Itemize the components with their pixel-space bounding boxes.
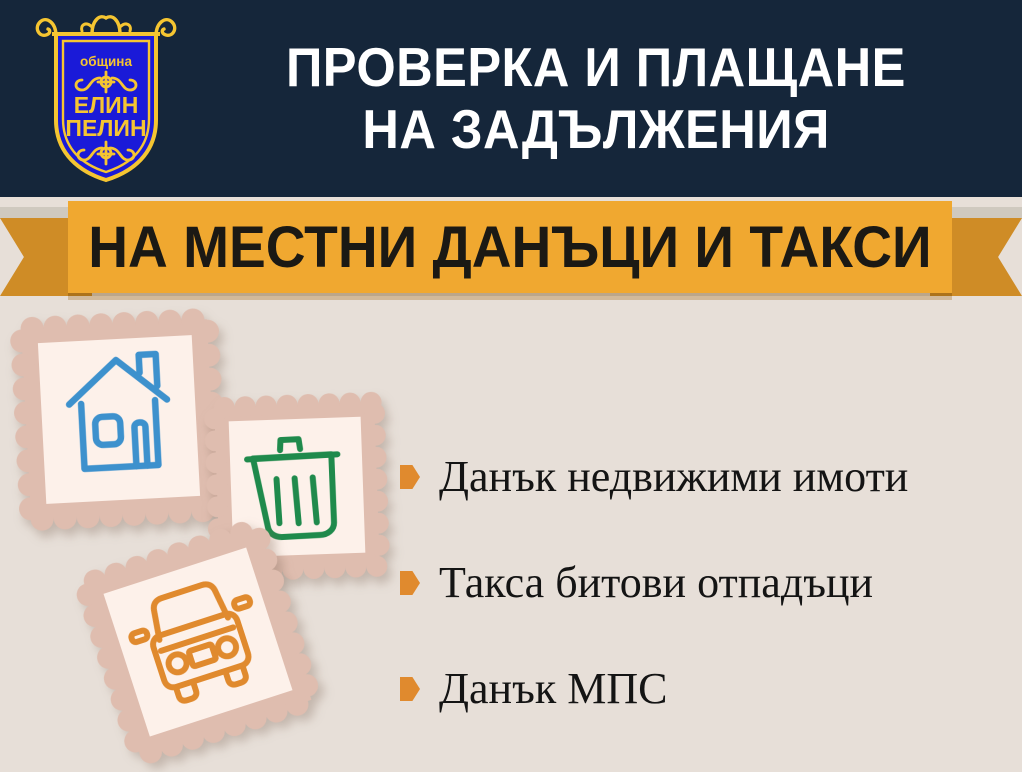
- poster-title-line-2: НА ЗАДЪЛЖЕНИЯ: [362, 99, 830, 161]
- list-item-label: Данък недвижими имоти: [439, 455, 908, 499]
- list-item-label: Данък МПС: [439, 667, 667, 711]
- list-item[interactable]: Такса битови отпадъци: [400, 530, 1010, 636]
- bullet-arrow-icon: [400, 465, 420, 489]
- ribbon-fold-right: [952, 207, 1022, 219]
- ribbon-shadow: [68, 293, 952, 300]
- ribbon-fold-left: [0, 207, 70, 219]
- bullet-arrow-icon: [400, 677, 420, 701]
- tax-type-list: Данък недвижими имоти Такса битови отпад…: [400, 424, 1010, 742]
- ribbon-subtitle: НА МЕСТНИ ДАНЪЦИ И ТАКСИ: [88, 214, 931, 281]
- municipality-emblem-logo: община ЕЛИН ПЕЛИН: [30, 8, 182, 188]
- bullet-arrow-icon: [400, 571, 420, 595]
- list-item[interactable]: Данък МПС: [400, 636, 1010, 742]
- list-item-label: Такса битови отпадъци: [439, 561, 873, 605]
- poster-canvas: община ЕЛИН ПЕЛИН: [0, 0, 1022, 772]
- ribbon-banner: НА МЕСТНИ ДАНЪЦИ И ТАКСИ: [0, 197, 1022, 307]
- poster-title-line-1: ПРОВЕРКА И ПЛАЩАНЕ: [286, 37, 906, 99]
- header-bar: община ЕЛИН ПЕЛИН: [0, 0, 1022, 197]
- stamp-card-house: [9, 307, 230, 533]
- list-item[interactable]: Данък недвижими имоти: [400, 424, 1010, 530]
- ribbon-main-panel: НА МЕСТНИ ДАНЪЦИ И ТАКСИ: [68, 201, 952, 293]
- poster-title: ПРОВЕРКА И ПЛАЩАНЕ НА ЗАДЪЛЖЕНИЯ: [186, 16, 1006, 181]
- emblem-name-line-2: ПЕЛИН: [65, 115, 146, 141]
- emblem-top-label: община: [80, 54, 132, 69]
